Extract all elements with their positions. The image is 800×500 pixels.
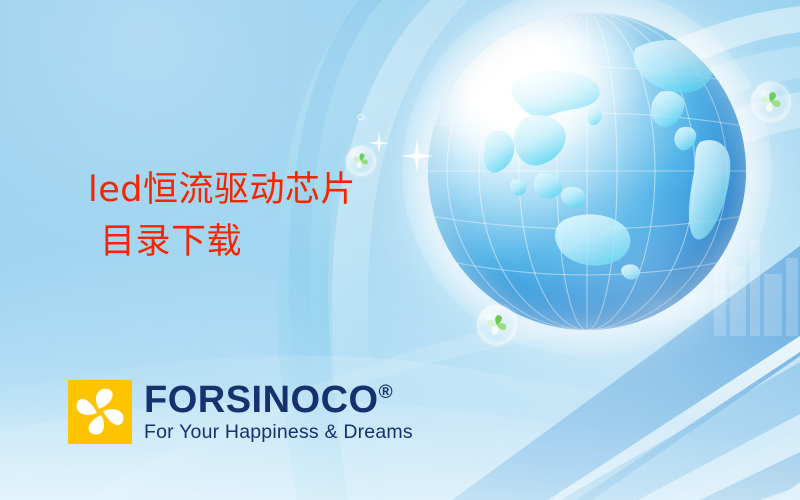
pinwheel-petals-icon	[68, 380, 132, 444]
sparkle-burst-small-icon	[354, 110, 368, 124]
brand-tagline: For Your Happiness & Dreams	[144, 423, 413, 443]
company-logo: FORSINOCO® For Your Happiness & Dreams	[68, 380, 413, 444]
headline-line-1: led恒流驱动芯片	[88, 170, 356, 210]
forsinoco-pinwheel-mark	[68, 380, 132, 444]
bubble-pinwheel-center	[477, 305, 517, 345]
brand-name: FORSINOCO®	[144, 381, 413, 419]
pinwheel-icon	[758, 89, 784, 115]
brand-name-text: FORSINOCO	[144, 379, 379, 421]
bubble-pinwheel-topright	[751, 82, 791, 122]
headline-text: led恒流驱动芯片 目录下载	[88, 164, 518, 268]
promo-banner: led恒流驱动芯片 目录下载 FORSINOCO® For Your Happi…	[0, 0, 800, 500]
pinwheel-icon	[484, 312, 510, 338]
registered-trademark-symbol: ®	[379, 382, 394, 403]
logo-text-block: FORSINOCO® For Your Happiness & Dreams	[144, 381, 413, 443]
headline-line-2: 目录下载	[88, 216, 518, 268]
